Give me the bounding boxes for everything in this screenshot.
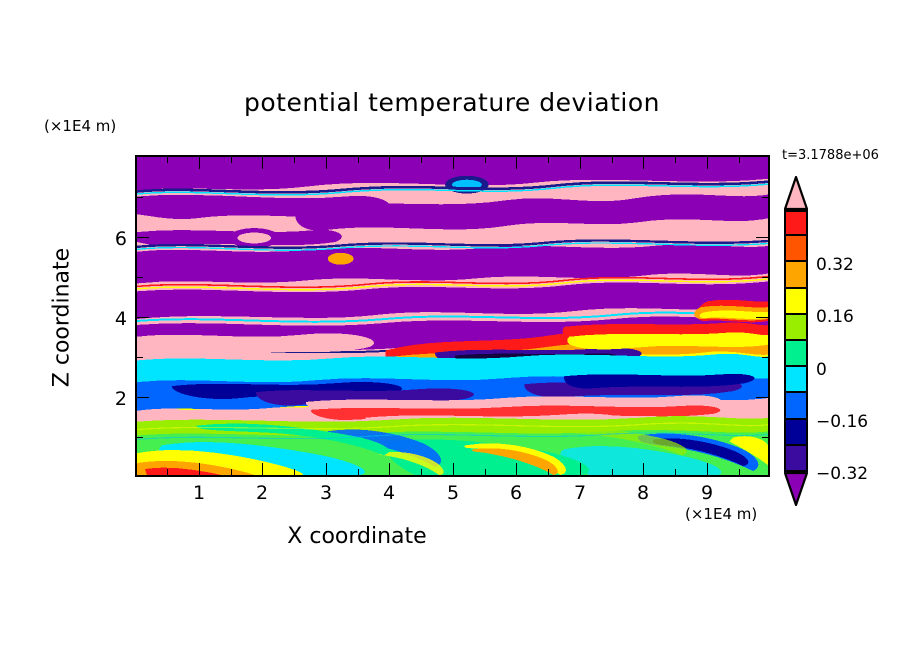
x-tick-label: 4 [374,482,404,504]
x-tick [262,463,263,475]
colorbar-tick-label: −0.16 [816,412,868,432]
timestamp-label: t=3.1788e+06 [782,148,879,163]
x-tick-minor [294,469,295,475]
x-tick-minor [675,469,676,475]
x-tick-label: 5 [438,482,468,504]
x-tick [453,463,454,475]
y-tick-right-minor [762,277,768,278]
x-tick-label: 9 [692,482,722,504]
colorbar-band [784,262,808,288]
colorbar-band [784,289,808,315]
x-tick-top [199,157,200,169]
y-tick-minor [137,277,143,278]
x-tick-top [453,157,454,169]
y-tick-right [756,397,768,398]
x-tick-top-minor [294,157,295,163]
colorbar-tick-label: 0.32 [816,255,854,275]
y-tick-minor [137,357,143,358]
x-tick-top [389,157,390,169]
x-axis-title: X coordinate [0,524,714,549]
x-tick-top [326,157,327,169]
x-tick-top-minor [485,157,486,163]
x-tick-top [262,157,263,169]
x-tick [389,463,390,475]
x-tick-minor [231,469,232,475]
z-axis-unit-label: (×1E4 m) [44,117,116,135]
x-tick-top [580,157,581,169]
y-tick [137,317,149,318]
x-tick-label: 2 [247,482,277,504]
x-tick [580,463,581,475]
colorbar-tick-label: 0.16 [816,307,854,327]
y-tick-right [756,237,768,238]
colorbar-tick-label: 0 [816,360,827,380]
x-tick [516,463,517,475]
y-tick-label: 4 [101,308,127,330]
x-axis-unit-label: (×1E4 m) [685,505,757,523]
x-tick-label: 8 [628,482,658,504]
colorbar-band [784,367,808,393]
x-tick [643,463,644,475]
y-tick-label: 2 [101,388,127,410]
colorbar[interactable] [784,210,808,472]
x-tick-label: 7 [565,482,595,504]
x-tick-top [643,157,644,169]
x-tick-top-minor [167,157,168,163]
colorbar-band [784,236,808,262]
colorbar-band [784,315,808,341]
colorbar-under-arrow [784,472,808,506]
x-tick-minor [739,469,740,475]
x-tick-minor [485,469,486,475]
x-tick-top-minor [739,157,740,163]
x-tick-top-minor [358,157,359,163]
x-tick-top-minor [612,157,613,163]
x-tick-top-minor [675,157,676,163]
x-tick-top [516,157,517,169]
x-tick-minor [548,469,549,475]
page-title: potential temperature deviation [0,88,904,117]
y-tick-minor [137,197,143,198]
x-tick-minor [358,469,359,475]
colorbar-band [784,393,808,419]
x-tick-minor [167,469,168,475]
x-tick-top-minor [231,157,232,163]
x-tick-label: 3 [311,482,341,504]
colorbar-band [784,210,808,236]
contour-plot-panel[interactable] [135,155,770,477]
scalar-field-image [137,157,768,475]
x-tick-label: 6 [501,482,531,504]
x-tick-minor [421,469,422,475]
x-tick-label: 1 [184,482,214,504]
y-tick-right-minor [762,197,768,198]
x-tick-top-minor [421,157,422,163]
x-tick [707,463,708,475]
x-tick-minor [612,469,613,475]
colorbar-tick-label: −0.32 [816,464,868,484]
x-tick-top [707,157,708,169]
y-tick-right-minor [762,437,768,438]
colorbar-band [784,341,808,367]
colorbar-band [784,420,808,446]
y-tick [137,397,149,398]
x-tick-top-minor [548,157,549,163]
x-tick [199,463,200,475]
x-tick [326,463,327,475]
y-axis-title: Z coordinate [50,208,75,428]
colorbar-band [784,446,808,472]
y-tick-right [756,317,768,318]
y-tick [137,237,149,238]
y-tick-right-minor [762,357,768,358]
y-tick-minor [137,437,143,438]
y-tick-label: 6 [101,228,127,250]
colorbar-over-arrow [784,176,808,210]
